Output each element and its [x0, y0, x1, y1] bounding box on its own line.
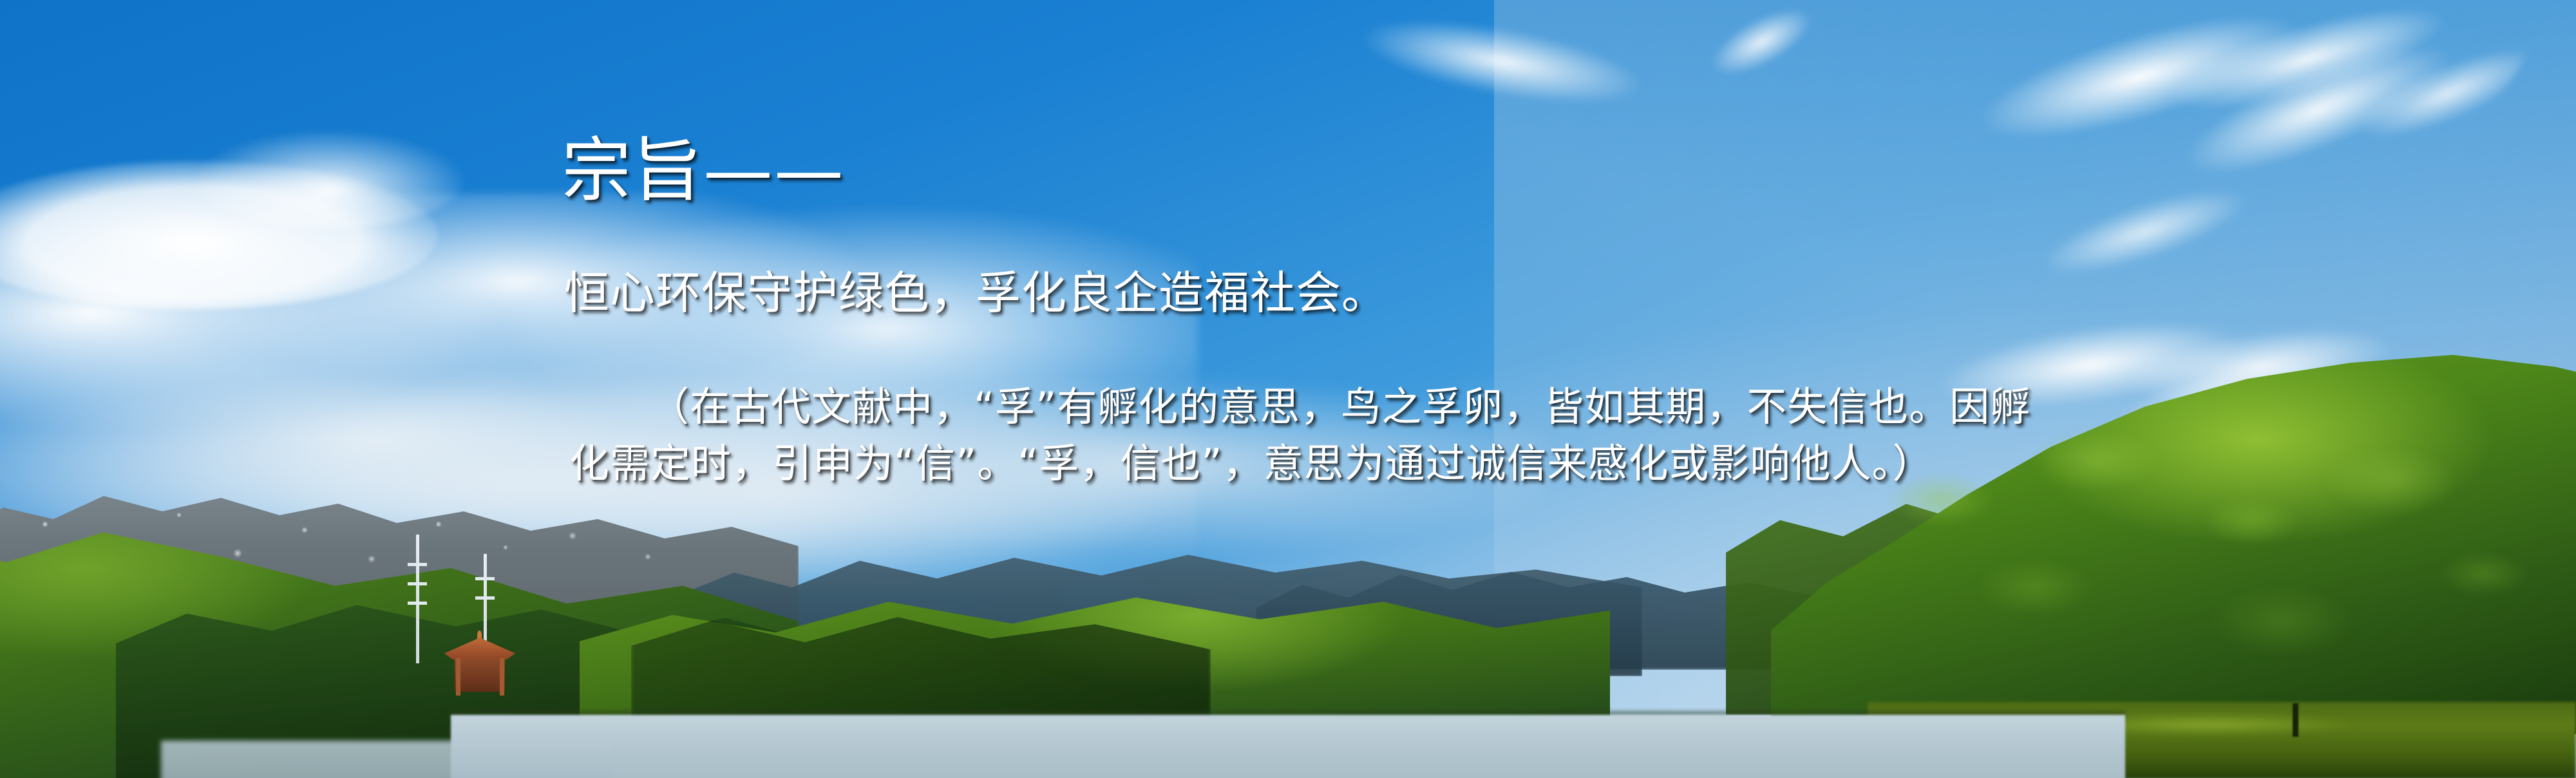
banner-headline: 宗旨—— [562, 137, 845, 206]
text-overlay: 宗旨—— 恒心环保守护绿色，孚化良企造福社会。 （在古代文献中，“孚”有孵化的意… [0, 0, 2576, 778]
banner-note: （在古代文献中，“孚”有孵化的意思，鸟之孚卵，皆如其期，不失信也。因孵化需定时，… [569, 379, 2038, 492]
banner-slogan: 恒心环保守护绿色，孚化良企造福社会。 [564, 270, 1387, 316]
hero-banner: 宗旨—— 恒心环保守护绿色，孚化良企造福社会。 （在古代文献中，“孚”有孵化的意… [0, 0, 2576, 778]
